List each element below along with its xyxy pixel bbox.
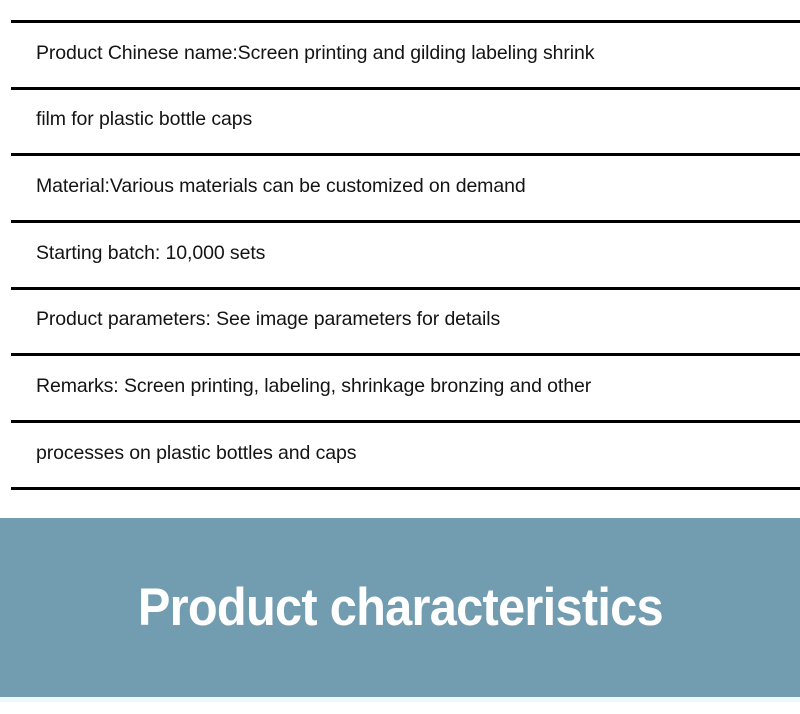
spec-row: Product parameters: See image parameters… <box>0 287 800 354</box>
spec-row: film for plastic bottle caps <box>0 87 800 154</box>
specification-list: Product Chinese name:Screen printing and… <box>0 0 800 490</box>
section-banner-title: Product characteristics <box>137 581 662 634</box>
spec-row-text: processes on plastic bottles and caps <box>36 442 356 465</box>
spec-row: Product Chinese name:Screen printing and… <box>0 20 800 87</box>
spec-row: Material:Various materials can be custom… <box>0 153 800 220</box>
spec-row-text: Product parameters: See image parameters… <box>36 308 500 331</box>
banner-underglow <box>0 697 800 702</box>
spec-row: Remarks: Screen printing, labeling, shri… <box>0 353 800 420</box>
product-spec-page: Product Chinese name:Screen printing and… <box>0 0 800 714</box>
spec-row-text: film for plastic bottle caps <box>36 108 252 131</box>
spec-row-text: Material:Various materials can be custom… <box>36 175 526 198</box>
spec-row: Starting batch: 10,000 sets <box>0 220 800 287</box>
spec-row-text: Starting batch: 10,000 sets <box>36 242 265 265</box>
spec-row-text: Product Chinese name:Screen printing and… <box>36 42 594 65</box>
spec-row: processes on plastic bottles and caps <box>0 420 800 487</box>
section-banner: Product characteristics <box>0 518 800 697</box>
spec-row-text: Remarks: Screen printing, labeling, shri… <box>36 375 591 398</box>
